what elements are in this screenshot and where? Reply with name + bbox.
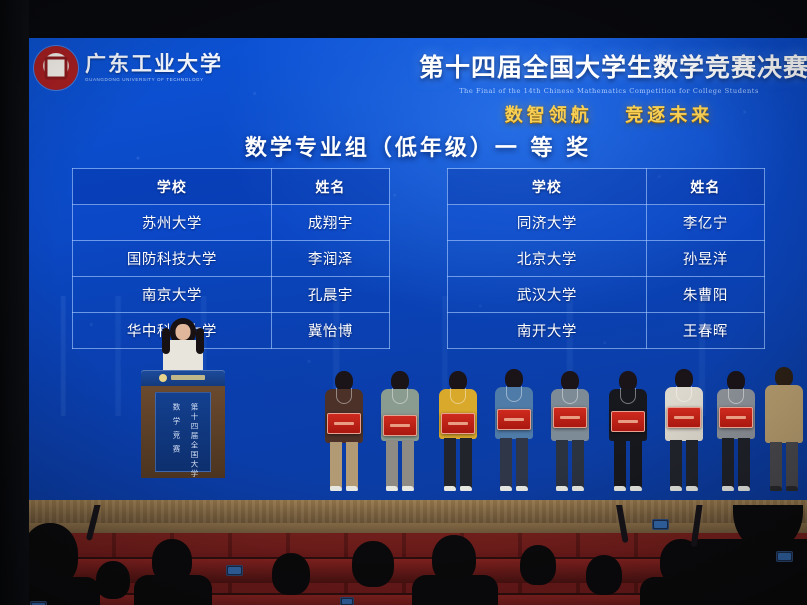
audience-member [272, 553, 310, 595]
red-certificate-icon [441, 413, 475, 434]
lanyard-icon [562, 388, 578, 404]
recipient-4 [495, 369, 533, 490]
table-row: 武汉大学 朱曹阳 [447, 277, 764, 313]
shoe-icon [770, 486, 782, 491]
recipient-2 [381, 371, 419, 490]
leg [556, 440, 568, 490]
table-header-row: 学校 姓名 [72, 169, 389, 205]
recipient-1 [325, 371, 363, 490]
lanyard-icon [676, 386, 692, 402]
smartphone-icon [652, 519, 669, 530]
award-presenter [160, 318, 206, 374]
leg [614, 440, 626, 490]
audience-area [0, 505, 807, 605]
cell-school: 武汉大学 [447, 277, 647, 313]
audience-member [586, 555, 622, 595]
presenter-hair-left [162, 328, 170, 354]
slogan-right: 竞逐未来 [625, 105, 713, 126]
leg [460, 438, 472, 490]
speaker-podium: 数 学 竞 赛 第十四届全国大学生 [141, 370, 225, 478]
red-certificate-icon [719, 407, 753, 428]
university-crest-icon [34, 46, 78, 90]
shoe-icon [386, 486, 398, 491]
recipient-legs [381, 440, 419, 490]
leg [670, 440, 682, 490]
lanyard-icon [506, 386, 522, 402]
recipient-7 [665, 369, 703, 490]
recipient-legs [495, 438, 533, 490]
column-header-name: 姓名 [272, 169, 389, 205]
red-certificate-icon [553, 407, 587, 428]
audience-member [96, 561, 130, 599]
official-torso [765, 385, 803, 443]
shoe-icon [738, 486, 750, 491]
leg [402, 440, 414, 490]
smartphone-icon [30, 601, 47, 605]
shoe-icon [670, 486, 682, 491]
leg [346, 442, 358, 490]
ceremony-official [765, 367, 803, 490]
shoe-icon [572, 486, 584, 491]
event-title-cn: 第十四届全国大学生数学竞赛决赛 [419, 48, 799, 84]
shoe-icon [402, 486, 414, 491]
recipient-legs [609, 440, 647, 490]
lanyard-icon [336, 388, 352, 404]
column-header-school: 学校 [72, 169, 272, 205]
cell-name: 李亿宁 [647, 205, 764, 241]
red-certificate-icon [497, 409, 531, 430]
shoe-icon [614, 486, 626, 491]
red-certificate-icon [667, 407, 701, 428]
shoe-icon [786, 486, 798, 491]
award-category-heading: 数学专业组（低年级）一 等 奖 [29, 130, 807, 162]
podium-crest-icon [159, 374, 167, 382]
red-certificate-icon [383, 415, 417, 436]
table-row: 苏州大学 成翔宇 [72, 205, 389, 241]
table-header-row: 学校 姓名 [447, 169, 764, 205]
podium-top [141, 370, 225, 386]
cell-school: 北京大学 [447, 241, 647, 277]
logo-wordmark: 广东工业大学 GUANGDONG UNIVERSITY OF TECHNOLOG… [85, 54, 223, 83]
column-header-name: 姓名 [647, 169, 764, 205]
leg [630, 440, 642, 490]
leg [386, 440, 398, 490]
photo-top-letterbox [0, 0, 807, 38]
podium-nameplate [171, 375, 205, 380]
recipient-legs [439, 438, 477, 490]
smartphone-icon [340, 597, 354, 605]
podium-body: 数 学 竞 赛 第十四届全国大学生 [141, 386, 225, 478]
table-row: 同济大学 李亿宁 [447, 205, 764, 241]
audience-member [520, 545, 556, 585]
lanyard-icon [392, 388, 408, 404]
red-certificate-icon [327, 413, 361, 434]
table-row: 南京大学 孔晨宇 [72, 277, 389, 313]
recipient-5 [551, 371, 589, 490]
recipient-3 [439, 371, 477, 490]
shoe-icon [330, 486, 342, 491]
cell-school: 国防科技大学 [72, 241, 272, 277]
leg [572, 440, 584, 490]
leg [770, 442, 782, 490]
recipient-legs [551, 440, 589, 490]
shoe-icon [686, 486, 698, 491]
recipient-legs [325, 442, 363, 490]
podium-banner-panel: 数 学 竞 赛 第十四届全国大学生 [155, 392, 211, 472]
shoe-icon [444, 486, 456, 491]
audience-member-foreground [687, 539, 807, 605]
award-recipients-group: 数 学 竞 赛 第十四届全国大学生 [29, 330, 807, 500]
organizer-logo: 广东工业大学 GUANGDONG UNIVERSITY OF TECHNOLOG… [34, 46, 223, 90]
smartphone-icon [226, 565, 243, 576]
red-certificate-icon [611, 411, 645, 432]
recipient-legs [665, 440, 703, 490]
photo-left-letterbox [0, 0, 29, 605]
organizer-name-en: GUANGDONG UNIVERSITY OF TECHNOLOGY [85, 78, 223, 83]
leg [444, 438, 456, 490]
cell-school: 同济大学 [447, 205, 647, 241]
cell-school: 南京大学 [72, 277, 272, 313]
leg [686, 440, 698, 490]
lanyard-icon [450, 388, 466, 404]
shoe-icon [346, 486, 358, 491]
shoe-icon [516, 486, 528, 491]
right-results-table: 学校 姓名 同济大学 李亿宁 北京大学 孙昱洋 武汉大学 朱曹阳 [447, 168, 765, 349]
shoe-icon [460, 486, 472, 491]
leg [722, 438, 734, 490]
presenter-hair-right [196, 328, 204, 354]
event-title-en: The Final of the 14th Chinese Mathematic… [419, 87, 799, 95]
shoe-icon [722, 486, 734, 491]
audience-member [134, 575, 212, 605]
column-header-school: 学校 [447, 169, 647, 205]
table-row: 北京大学 孙昱洋 [447, 241, 764, 277]
cell-name: 李润泽 [272, 241, 389, 277]
shoe-icon [500, 486, 512, 491]
cell-name: 孙昱洋 [647, 241, 764, 277]
shoe-icon [630, 486, 642, 491]
audience-member [352, 541, 394, 587]
table-row: 国防科技大学 李润泽 [72, 241, 389, 277]
cell-name: 朱曹阳 [647, 277, 764, 313]
cell-name: 成翔宇 [272, 205, 389, 241]
slogan-left: 数智领航 [505, 105, 593, 126]
led-display-screen: 广东工业大学 GUANGDONG UNIVERSITY OF TECHNOLOG… [29, 38, 807, 500]
shoe-icon [556, 486, 568, 491]
podium-vertical-text: 数 学 竞 赛 第十四届全国大学生 [171, 403, 200, 478]
audience-member [412, 575, 498, 605]
leg [786, 442, 798, 490]
event-masthead: 第十四届全国大学生数学竞赛决赛 The Final of the 14th Ch… [419, 48, 799, 127]
leg [516, 438, 528, 490]
cell-school: 苏州大学 [72, 205, 272, 241]
recipient-legs [717, 438, 755, 490]
leg [330, 442, 342, 490]
lanyard-icon [728, 388, 744, 404]
smartphone-icon [776, 551, 793, 562]
official-legs [765, 442, 803, 490]
recipient-6 [609, 371, 647, 490]
recipient-8 [717, 371, 755, 490]
left-results-table: 学校 姓名 苏州大学 成翔宇 国防科技大学 李润泽 南京大学 孔 [72, 168, 390, 349]
event-slogan: 数智领航 竞逐未来 [419, 101, 799, 127]
results-tables-container: 学校 姓名 苏州大学 成翔宇 国防科技大学 李润泽 南京大学 孔 [29, 168, 807, 349]
leg [500, 438, 512, 490]
podium-banner-line-1: 数 学 竞 赛 [171, 403, 182, 478]
presenter-face [176, 324, 191, 340]
lanyard-icon [620, 388, 636, 404]
leg [738, 438, 750, 490]
organizer-name-cn: 广东工业大学 [85, 54, 223, 75]
ceremony-photo: 广东工业大学 GUANGDONG UNIVERSITY OF TECHNOLOG… [0, 0, 807, 605]
cell-name: 孔晨宇 [272, 277, 389, 313]
official-head [775, 367, 793, 387]
podium-banner-line-2: 第十四届全国大学生 [189, 403, 200, 478]
